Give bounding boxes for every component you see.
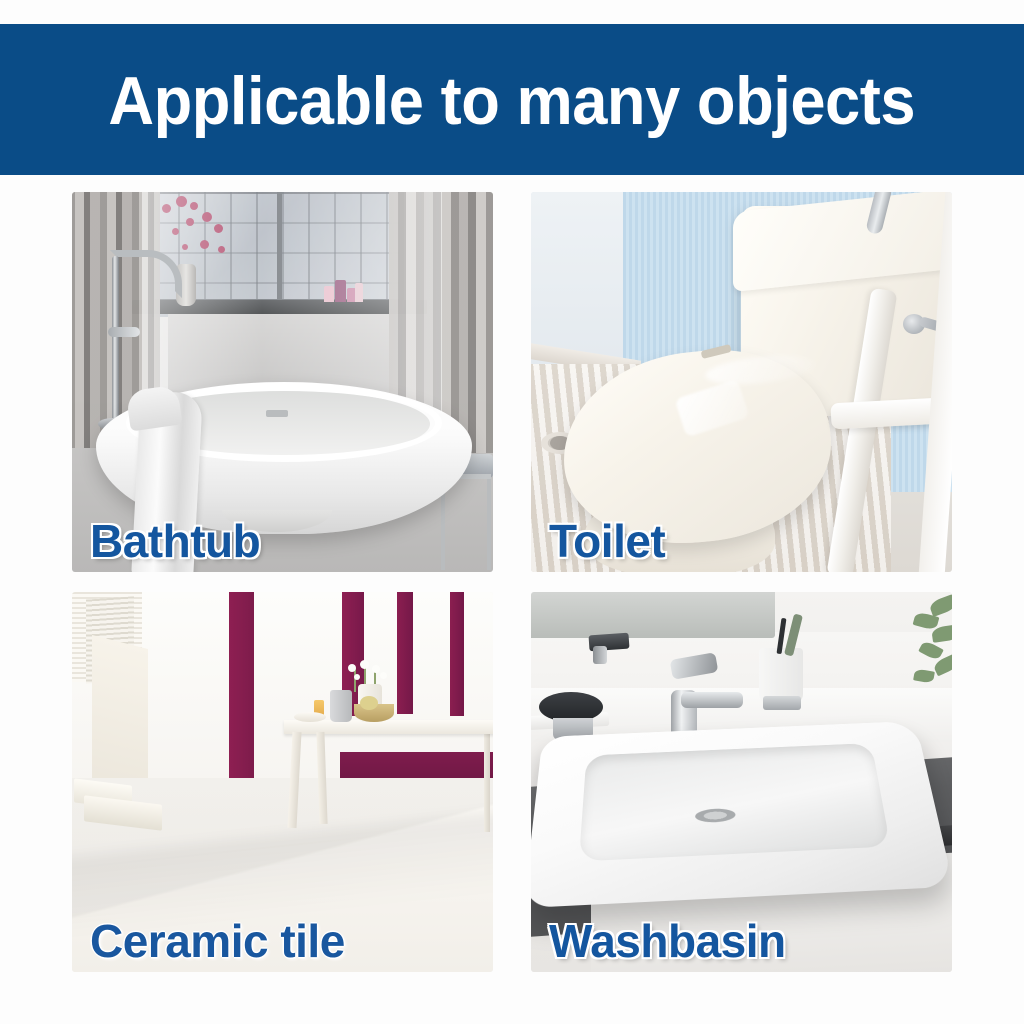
object-grid: Bathtub — [72, 192, 952, 972]
caption-bathtub: Bathtub — [90, 518, 260, 564]
caption-washbasin: Washbasin — [549, 918, 786, 964]
panel-bathtub[interactable]: Bathtub — [72, 192, 493, 572]
caption-toilet: Toilet — [549, 518, 665, 564]
plant-decor — [890, 592, 952, 702]
panel-ceramic-tile[interactable]: Ceramic tile — [72, 592, 493, 972]
header-banner: Applicable to many objects — [0, 24, 1024, 175]
dining-table — [284, 720, 493, 734]
caption-ceramic-tile: Ceramic tile — [90, 918, 345, 964]
basin-shape — [531, 721, 952, 908]
page-title: Applicable to many objects — [109, 67, 916, 135]
poster-root: Applicable to many objects — [0, 0, 1024, 1024]
panel-toilet[interactable]: Toilet — [531, 192, 952, 572]
panel-washbasin[interactable]: Washbasin — [531, 592, 952, 972]
